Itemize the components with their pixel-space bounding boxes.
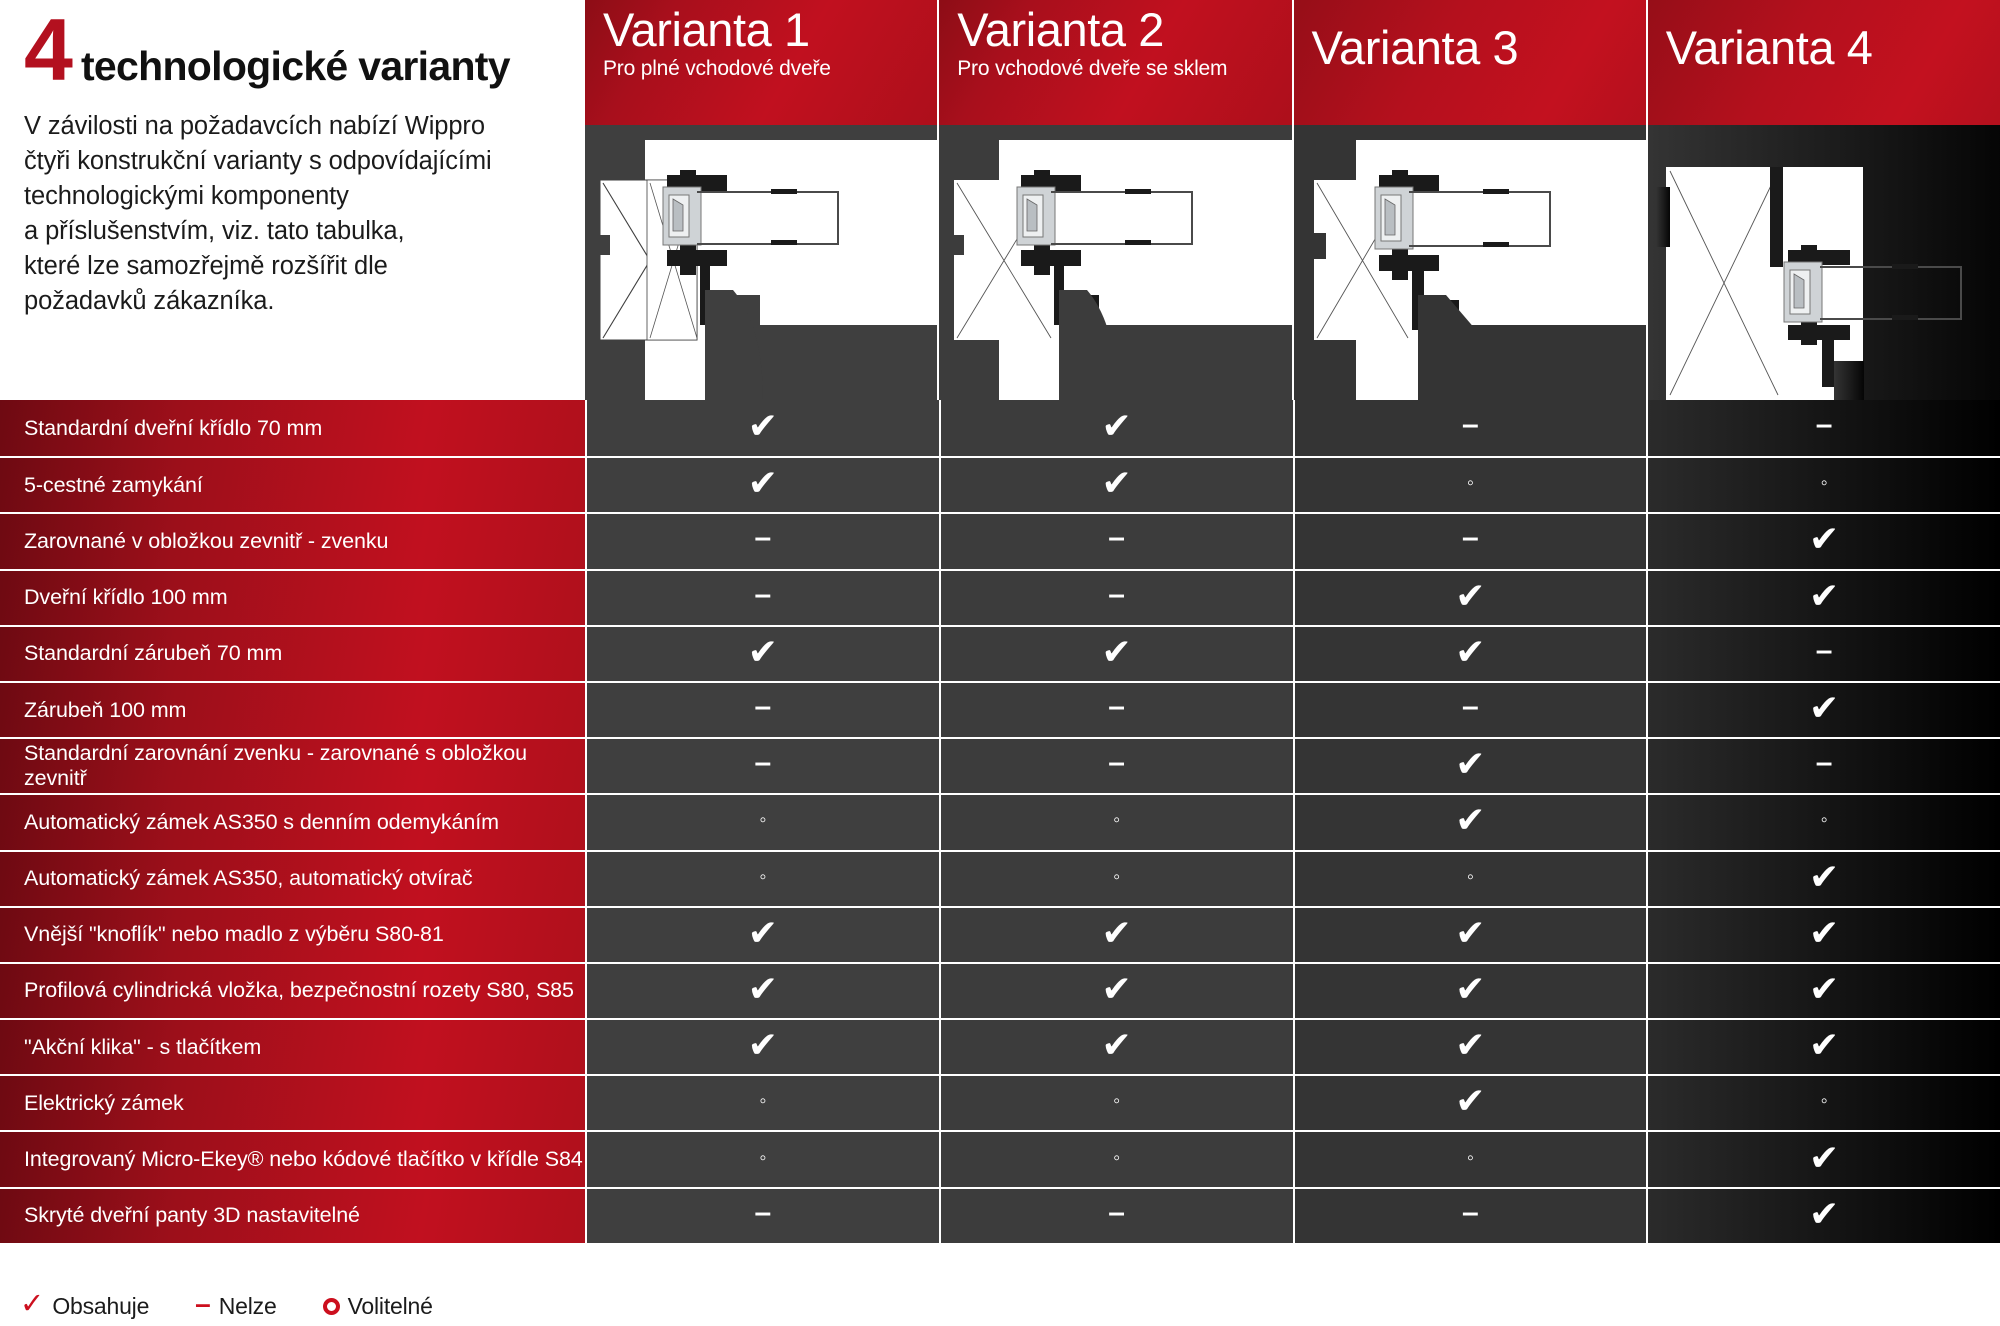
legend-item-not-possible: – Nelze	[195, 1293, 276, 1321]
cell-v1: ✔	[585, 1020, 939, 1074]
legend-label: Nelze	[219, 1293, 277, 1320]
variant-column-3: Varianta 3	[1292, 0, 1646, 400]
title-text: technologické varianty	[81, 46, 510, 87]
cell-v3: ◦	[1293, 458, 1647, 512]
check-icon: ✔	[1809, 521, 1839, 557]
dash-icon: –	[1462, 410, 1479, 440]
cell-v4: ✔	[1646, 1132, 2000, 1186]
cell-v2: ✔	[939, 400, 1293, 456]
cell-v2: –	[939, 1189, 1293, 1243]
cell-v4: ✔	[1646, 1020, 2000, 1074]
dash-icon: –	[1108, 523, 1125, 553]
cell-v2: –	[939, 683, 1293, 737]
optional-circle-icon: ◦	[759, 867, 766, 887]
check-icon: ✔	[1455, 971, 1485, 1007]
cell-v3: ✔	[1293, 739, 1647, 793]
row-cells: – – ✔ –	[585, 739, 2000, 793]
row-cells: – – ✔ ✔	[585, 571, 2000, 625]
cell-v2: –	[939, 571, 1293, 625]
row-cells: ✔ ✔ ✔ ✔	[585, 908, 2000, 962]
variant-column-1: Varianta 1 Pro plné vchodové dveře	[585, 0, 937, 400]
check-icon: ✔	[748, 971, 778, 1007]
cell-v3: ✔	[1293, 1020, 1647, 1074]
cell-v4: ✔	[1646, 964, 2000, 1018]
optional-circle-icon: ◦	[759, 1091, 766, 1111]
row-cells: – – – ✔	[585, 683, 2000, 737]
row-label: Dveřní křídlo 100 mm	[0, 571, 585, 625]
row-label: Zarovnané v obložkou zevnitř - zvenku	[0, 514, 585, 568]
check-icon: ✔	[1809, 1140, 1839, 1176]
cell-v4: ✔	[1646, 1189, 2000, 1243]
door-section-diagram-icon	[585, 125, 937, 400]
row-cells: ✔ ✔ ✔ ✔	[585, 964, 2000, 1018]
cell-v3: ✔	[1293, 571, 1647, 625]
cell-v1: –	[585, 1189, 939, 1243]
table-row: Elektrický zámek ◦ ◦ ✔ ◦	[0, 1074, 2000, 1130]
variant-name-2: Varianta 2	[957, 5, 1291, 54]
variant-header-1: Varianta 1 Pro plné vchodové dveře	[585, 0, 937, 125]
variant-section-drawing-2	[939, 125, 1291, 400]
variant-section-drawing-1	[585, 125, 937, 400]
cell-v1: ◦	[585, 1132, 939, 1186]
cell-v1: –	[585, 514, 939, 568]
variant-header-2: Varianta 2 Pro vchodové dveře se sklem	[939, 0, 1291, 125]
door-section-diagram-icon	[1648, 125, 2000, 400]
variant-comparison-sheet: 4 technologické varianty V závilosti na …	[0, 0, 2000, 1326]
cell-v1: ✔	[585, 908, 939, 962]
intro-line: čtyři konstrukční varianty s odpovídajíc…	[24, 144, 561, 179]
dash-icon: –	[1462, 523, 1479, 553]
row-label: Zárubeň 100 mm	[0, 683, 585, 737]
legend-label: Obsahuje	[52, 1293, 149, 1320]
cell-v2: ✔	[939, 964, 1293, 1018]
check-icon: ✔	[1809, 690, 1839, 726]
table-row: "Akční klika" - s tlačítkem ✔ ✔ ✔ ✔	[0, 1018, 2000, 1074]
cell-v4: ✔	[1646, 908, 2000, 962]
optional-circle-icon: ◦	[759, 1148, 766, 1168]
cell-v1: ◦	[585, 852, 939, 906]
variant-header-4: Varianta 4	[1648, 0, 2000, 125]
variant-column-2: Varianta 2 Pro vchodové dveře se sklem	[937, 0, 1291, 400]
cell-v3: –	[1293, 1189, 1647, 1243]
check-icon: ✔	[1102, 634, 1132, 670]
cell-v2: ✔	[939, 1020, 1293, 1074]
intro-line: technologickými komponenty	[24, 179, 561, 214]
table-row: 5-cestné zamykání ✔ ✔ ◦ ◦	[0, 456, 2000, 512]
variant-subtitle-2: Pro vchodové dveře se sklem	[957, 57, 1291, 80]
row-label: Standardní dveřní křídlo 70 mm	[0, 400, 585, 456]
cell-v3: ✔	[1293, 964, 1647, 1018]
check-icon: ✓	[20, 1290, 44, 1319]
cell-v1: –	[585, 571, 939, 625]
table-row: Automatický zámek AS350 s denním odemyká…	[0, 793, 2000, 849]
table-row: Standardní zarovnání zvenku - zarovnané …	[0, 737, 2000, 793]
cell-v1: –	[585, 683, 939, 737]
row-label: Standardní zárubeň 70 mm	[0, 627, 585, 681]
check-icon: ✔	[748, 465, 778, 501]
dash-icon: –	[1462, 1198, 1479, 1228]
cell-v3: –	[1293, 683, 1647, 737]
dash-icon: –	[755, 1198, 772, 1228]
cell-v2: –	[939, 514, 1293, 568]
optional-circle-icon: ◦	[1467, 473, 1474, 493]
row-label: Skryté dveřní panty 3D nastavitelné	[0, 1189, 585, 1243]
check-icon: ✔	[1809, 1027, 1839, 1063]
optional-circle-icon: ◦	[1113, 810, 1120, 830]
row-cells: – – – ✔	[585, 514, 2000, 568]
cell-v1: ✔	[585, 458, 939, 512]
dash-icon: –	[1462, 692, 1479, 722]
row-label: Profilová cylindrická vložka, bezpečnost…	[0, 964, 585, 1018]
cell-v4: ✔	[1646, 514, 2000, 568]
title-number: 4	[24, 14, 71, 86]
optional-circle-icon: ◦	[759, 810, 766, 830]
cell-v3: ✔	[1293, 795, 1647, 849]
table-row: Integrovaný Micro-Ekey® nebo kódové tlač…	[0, 1130, 2000, 1186]
check-icon: ✔	[1809, 859, 1839, 895]
row-label: 5-cestné zamykání	[0, 458, 585, 512]
optional-circle-icon: ◦	[1113, 1091, 1120, 1111]
check-icon: ✔	[1455, 746, 1485, 782]
variant-name-1: Varianta 1	[603, 5, 937, 54]
dash-icon: –	[1108, 692, 1125, 722]
check-icon: ✔	[1455, 1083, 1485, 1119]
row-cells: ◦ ◦ ◦ ✔	[585, 1132, 2000, 1186]
check-icon: ✔	[1455, 634, 1485, 670]
cell-v2: –	[939, 739, 1293, 793]
cell-v3: ✔	[1293, 1076, 1647, 1130]
cell-v2: ✔	[939, 627, 1293, 681]
variant-section-drawing-4	[1648, 125, 2000, 400]
dash-icon: –	[1108, 1198, 1125, 1228]
table-row: Skryté dveřní panty 3D nastavitelné – – …	[0, 1187, 2000, 1243]
legend-item-included: ✓ Obsahuje	[20, 1292, 149, 1321]
check-icon: ✔	[1809, 1196, 1839, 1232]
cell-v3: ✔	[1293, 627, 1647, 681]
intro-line: požadavků zákazníka.	[24, 284, 561, 319]
cell-v4: –	[1646, 400, 2000, 456]
cell-v3: ✔	[1293, 908, 1647, 962]
table-row: Zarovnané v obložkou zevnitř - zvenku – …	[0, 512, 2000, 568]
table-row: Standardní zárubeň 70 mm ✔ ✔ ✔ –	[0, 625, 2000, 681]
row-label: Automatický zámek AS350 s denním odemyká…	[0, 795, 585, 849]
check-icon: ✔	[1455, 915, 1485, 951]
dash-icon: –	[1108, 580, 1125, 610]
row-label: Integrovaný Micro-Ekey® nebo kódové tlač…	[0, 1132, 585, 1186]
cell-v4: ◦	[1646, 458, 2000, 512]
legend: ✓ Obsahuje – Nelze Volitelné	[0, 1287, 2000, 1326]
legend-item-optional: Volitelné	[323, 1293, 433, 1320]
cell-v1: –	[585, 739, 939, 793]
check-icon: ✔	[748, 1027, 778, 1063]
cell-v3: ◦	[1293, 1132, 1647, 1186]
check-icon: ✔	[1455, 578, 1485, 614]
door-section-diagram-icon	[1294, 125, 1646, 400]
cell-v1: ✔	[585, 400, 939, 456]
intro-panel: 4 technologické varianty V závilosti na …	[0, 0, 585, 398]
cell-v1: ◦	[585, 1076, 939, 1130]
check-icon: ✔	[1809, 915, 1839, 951]
cell-v4: ✔	[1646, 852, 2000, 906]
row-label: Vnější "knoflík" nebo madlo z výběru S80…	[0, 908, 585, 962]
cell-v4: –	[1646, 627, 2000, 681]
table-row: Zárubeň 100 mm – – – ✔	[0, 681, 2000, 737]
row-cells: ✔ ✔ – –	[585, 400, 2000, 456]
row-cells: ◦ ◦ ✔ ◦	[585, 795, 2000, 849]
optional-circle-icon: ◦	[1467, 1148, 1474, 1168]
cell-v4: –	[1646, 739, 2000, 793]
optional-circle-icon: ◦	[1113, 867, 1120, 887]
row-label: Automatický zámek AS350, automatický otv…	[0, 852, 585, 906]
check-icon: ✔	[1455, 802, 1485, 838]
check-icon: ✔	[748, 634, 778, 670]
cell-v3: –	[1293, 400, 1647, 456]
check-icon: ✔	[1455, 1027, 1485, 1063]
intro-line: a příslušenstvím, viz. tato tabulka,	[24, 214, 561, 249]
optional-circle-icon: ◦	[1467, 867, 1474, 887]
cell-v4: ◦	[1646, 795, 2000, 849]
page-title: 4 technologické varianty	[24, 14, 561, 87]
table-row: Dveřní křídlo 100 mm – – ✔ ✔	[0, 569, 2000, 625]
cell-v2: ✔	[939, 458, 1293, 512]
cell-v4: ✔	[1646, 683, 2000, 737]
variant-header-3: Varianta 3	[1294, 0, 1646, 125]
intro-line: V závilosti na požadavcích nabízí Wippro	[24, 109, 561, 144]
dash-icon: –	[1816, 748, 1833, 778]
variant-header-columns: Varianta 1 Pro plné vchodové dveře	[585, 0, 2000, 400]
check-icon: ✔	[1102, 971, 1132, 1007]
legend-label: Volitelné	[348, 1293, 433, 1320]
table-row: Automatický zámek AS350, automatický otv…	[0, 850, 2000, 906]
cell-v3: –	[1293, 514, 1647, 568]
cell-v1: ◦	[585, 795, 939, 849]
variant-section-drawing-3	[1294, 125, 1646, 400]
door-section-diagram-icon	[939, 125, 1291, 400]
cell-v2: ◦	[939, 852, 1293, 906]
variant-name-3: Varianta 3	[1312, 23, 1646, 72]
variant-name-4: Varianta 4	[1666, 23, 2000, 72]
cell-v4: ✔	[1646, 571, 2000, 625]
row-cells: ✔ ✔ ✔ ✔	[585, 1020, 2000, 1074]
dash-icon: –	[755, 692, 772, 722]
optional-circle-icon: ◦	[1821, 810, 1828, 830]
row-label: "Akční klika" - s tlačítkem	[0, 1020, 585, 1074]
cell-v2: ◦	[939, 1132, 1293, 1186]
check-icon: ✔	[1102, 465, 1132, 501]
header-area: 4 technologické varianty V závilosti na …	[0, 0, 2000, 400]
row-cells: ✔ ✔ ✔ –	[585, 627, 2000, 681]
dash-icon: –	[1108, 748, 1125, 778]
optional-circle-icon: ◦	[1821, 473, 1828, 493]
dash-icon: –	[755, 580, 772, 610]
row-cells: ✔ ✔ ◦ ◦	[585, 458, 2000, 512]
cell-v1: ✔	[585, 964, 939, 1018]
circle-icon	[323, 1298, 340, 1315]
features-table: Standardní dveřní křídlo 70 mm ✔ ✔ – – 5…	[0, 400, 2000, 1243]
intro-paragraph: V závilosti na požadavcích nabízí Wippro…	[24, 109, 561, 319]
cell-v2: ◦	[939, 795, 1293, 849]
row-cells: ◦ ◦ ◦ ✔	[585, 852, 2000, 906]
row-label: Standardní zarovnání zvenku - zarovnané …	[0, 739, 585, 793]
cell-v4: ◦	[1646, 1076, 2000, 1130]
check-icon: ✔	[1809, 578, 1839, 614]
check-icon: ✔	[1102, 408, 1132, 444]
row-label: Elektrický zámek	[0, 1076, 585, 1130]
dash-icon: –	[755, 523, 772, 553]
check-icon: ✔	[1809, 971, 1839, 1007]
cell-v1: ✔	[585, 627, 939, 681]
check-icon: ✔	[1102, 1027, 1132, 1063]
optional-circle-icon: ◦	[1113, 1148, 1120, 1168]
check-icon: ✔	[748, 408, 778, 444]
row-cells: ◦ ◦ ✔ ◦	[585, 1076, 2000, 1130]
check-icon: ✔	[748, 915, 778, 951]
dash-icon: –	[755, 748, 772, 778]
variant-subtitle-1: Pro plné vchodové dveře	[603, 57, 937, 80]
variant-column-4: Varianta 4	[1646, 0, 2000, 400]
dash-icon: –	[1816, 636, 1833, 666]
cell-v2: ✔	[939, 908, 1293, 962]
dash-icon: –	[195, 1290, 211, 1318]
table-row: Standardní dveřní křídlo 70 mm ✔ ✔ – –	[0, 400, 2000, 456]
cell-v3: ◦	[1293, 852, 1647, 906]
intro-line: které lze samozřejmě rozšířit dle	[24, 249, 561, 284]
table-row: Profilová cylindrická vložka, bezpečnost…	[0, 962, 2000, 1018]
dash-icon: –	[1816, 410, 1833, 440]
cell-v2: ◦	[939, 1076, 1293, 1130]
check-icon: ✔	[1102, 915, 1132, 951]
row-cells: – – – ✔	[585, 1189, 2000, 1243]
optional-circle-icon: ◦	[1821, 1091, 1828, 1111]
table-row: Vnější "knoflík" nebo madlo z výběru S80…	[0, 906, 2000, 962]
